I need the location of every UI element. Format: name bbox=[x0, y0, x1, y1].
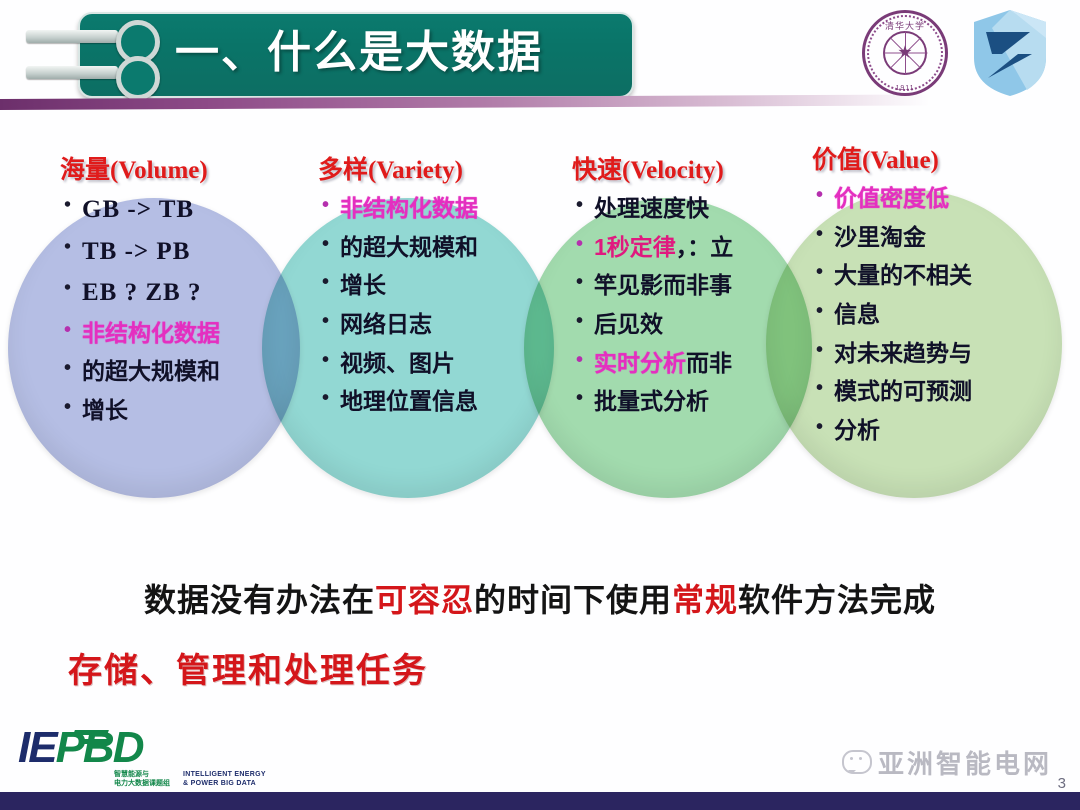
list-item: 1秒定律，：立 bbox=[572, 231, 822, 264]
list-item-label: 非结构化数据 bbox=[340, 195, 478, 221]
venn-list-value: 价值密度低 沙里淘金 大量的不相关 信息 对未来趋势与 模式的可预测 分析 bbox=[812, 182, 1062, 447]
venn-list-variety: 非结构化数据 的超大规模和 增长 网络日志 视频、图片 地理位置信息 bbox=[318, 192, 568, 418]
wechat-watermark: 亚洲智能电网 bbox=[842, 742, 1052, 782]
list-item: 网络日志 bbox=[318, 308, 568, 341]
list-item-continuation: 增长 bbox=[318, 269, 568, 302]
list-item-continuation: 后见效 bbox=[572, 308, 822, 341]
binder-rings-icon bbox=[16, 18, 166, 90]
list-item: 非结构化数据 bbox=[60, 317, 310, 350]
list-item: 价值密度低 bbox=[812, 182, 1062, 215]
list-item: TB -> PB bbox=[60, 234, 310, 270]
binder-bar-bottom bbox=[26, 66, 118, 79]
list-item-continuation: 批量式分析 bbox=[572, 385, 822, 418]
list-item-continuation: 竿见影而非事 bbox=[572, 269, 822, 302]
logo-speed-dash-2 bbox=[81, 739, 109, 744]
list-item: 地理位置信息 bbox=[318, 385, 568, 418]
list-item-continuation: 分析 bbox=[812, 414, 1062, 447]
list-item: 沙里淘金 bbox=[812, 221, 1062, 254]
logo-subtitle-cn: 智慧能源与 电力大数据课题组 bbox=[114, 770, 170, 788]
list-item-highlight: 实时分析 bbox=[594, 350, 686, 376]
logo-text-ie: IE bbox=[18, 723, 56, 772]
statement-text-1: 数据没有办法在 bbox=[144, 582, 375, 618]
caption-en: (Variety) bbox=[368, 157, 463, 184]
list-item: 实时分析而非 bbox=[572, 347, 822, 380]
binder-bar-top bbox=[26, 30, 118, 43]
bottom-accent-band bbox=[0, 792, 1080, 810]
wechat-bubble-icon bbox=[842, 750, 872, 774]
list-item: EB ? ZB ? bbox=[60, 275, 310, 311]
venn-column-value: 价值(Value) 价值密度低 沙里淘金 大量的不相关 信息 对未来趋势与 模式… bbox=[812, 140, 1062, 453]
venn-caption-variety: 多样(Variety) bbox=[318, 150, 568, 186]
logo-subtitle-en-line1: INTELLIGENT ENERGY bbox=[183, 770, 266, 779]
venn-caption-velocity: 快速(Velocity) bbox=[572, 150, 822, 186]
venn-column-velocity: 快速(Velocity) 处理速度快 1秒定律，：立 竿见影而非事 后见效 实时… bbox=[572, 150, 822, 424]
list-item-rest: 而非 bbox=[686, 350, 732, 376]
list-item-rest: ，：立 bbox=[676, 234, 734, 260]
list-item: 处理速度快 bbox=[572, 192, 822, 225]
list-item-label: 非结构化数据 bbox=[82, 320, 220, 346]
list-item-continuation: 的超大规模和 bbox=[318, 231, 568, 264]
watermark-text: 亚洲智能电网 bbox=[878, 744, 1052, 781]
venn-column-volume: 海量(Volume) GB -> TB TB -> PB EB ? ZB ? 非… bbox=[60, 150, 310, 432]
logo-speed-dash-1 bbox=[73, 730, 109, 735]
venn-caption-volume: 海量(Volume) bbox=[60, 150, 310, 186]
logo-subtitle-en: INTELLIGENT ENERGY & POWER BIG DATA bbox=[183, 770, 266, 788]
statement-line-1: 数据没有办法在可容忍的时间下使用常规软件方法完成 bbox=[0, 575, 1080, 621]
caption-cn: 海量 bbox=[60, 156, 110, 184]
list-item-label: 价值密度低 bbox=[834, 185, 949, 211]
caption-en: (Velocity) bbox=[622, 157, 724, 184]
list-item: GB -> TB bbox=[60, 192, 310, 228]
page-title: 一、什么是大数据 bbox=[175, 20, 625, 86]
seal-year: 1911 bbox=[862, 85, 948, 92]
caption-cn: 价值 bbox=[812, 146, 862, 174]
statement-text-2: 的时间下使用 bbox=[474, 582, 672, 618]
statement-line-2: 存储、管理和处理任务 bbox=[0, 643, 1080, 692]
list-item-continuation: 的超大规模和 bbox=[60, 355, 310, 388]
summary-statement: 数据没有办法在可容忍的时间下使用常规软件方法完成 存储、管理和处理任务 bbox=[0, 575, 1080, 692]
caption-cn: 快速 bbox=[572, 156, 622, 184]
list-item-continuation: 信息 bbox=[812, 298, 1062, 331]
caption-en: (Value) bbox=[862, 147, 939, 174]
statement-text-3: 软件方法完成 bbox=[738, 582, 936, 618]
venn-caption-value: 价值(Value) bbox=[812, 140, 1062, 176]
list-item: 视频、图片 bbox=[318, 347, 568, 380]
tsinghua-seal-icon: 清华大学 ★ 1911 bbox=[862, 10, 948, 96]
statement-highlight-1: 可容忍 bbox=[375, 582, 474, 618]
caption-cn: 多样 bbox=[318, 156, 368, 184]
caption-en: (Volume) bbox=[110, 157, 208, 184]
venn-list-volume: GB -> TB TB -> PB EB ? ZB ? 非结构化数据 的超大规模… bbox=[60, 192, 310, 426]
statement-highlight-2: 常规 bbox=[672, 582, 738, 618]
list-item-continuation: 模式的可预测 bbox=[812, 375, 1062, 408]
seal-star-icon: ★ bbox=[897, 44, 912, 61]
list-item: 非结构化数据 bbox=[318, 192, 568, 225]
blue-shield-logo-icon bbox=[972, 8, 1048, 98]
logo-subtitle-cn-line1: 智慧能源与 bbox=[114, 770, 170, 779]
binder-ring-bottom bbox=[116, 56, 160, 100]
list-item: 大量的不相关 bbox=[812, 259, 1062, 292]
venn-column-variety: 多样(Variety) 非结构化数据 的超大规模和 增长 网络日志 视频、图片 … bbox=[318, 150, 568, 424]
slide-root: 一、什么是大数据 清华大学 ★ 1911 bbox=[0, 0, 1080, 810]
list-item-highlight: 1秒定律 bbox=[594, 234, 676, 260]
logo-subtitle-en-line2: & POWER BIG DATA bbox=[183, 779, 266, 788]
iepbd-logo: IEPBD 智慧能源与 电力大数据课题组 INTELLIGENT ENERGY … bbox=[18, 726, 278, 790]
list-item-continuation: 增长 bbox=[60, 394, 310, 427]
venn-list-velocity: 处理速度快 1秒定律，：立 竿见影而非事 后见效 实时分析而非 批量式分析 bbox=[572, 192, 822, 418]
logo-subtitle-cn-line2: 电力大数据课题组 bbox=[114, 779, 170, 788]
slide-header: 一、什么是大数据 清华大学 ★ 1911 bbox=[0, 0, 1080, 110]
list-item: 对未来趋势与 bbox=[812, 337, 1062, 370]
page-number: 3 bbox=[1058, 775, 1066, 792]
